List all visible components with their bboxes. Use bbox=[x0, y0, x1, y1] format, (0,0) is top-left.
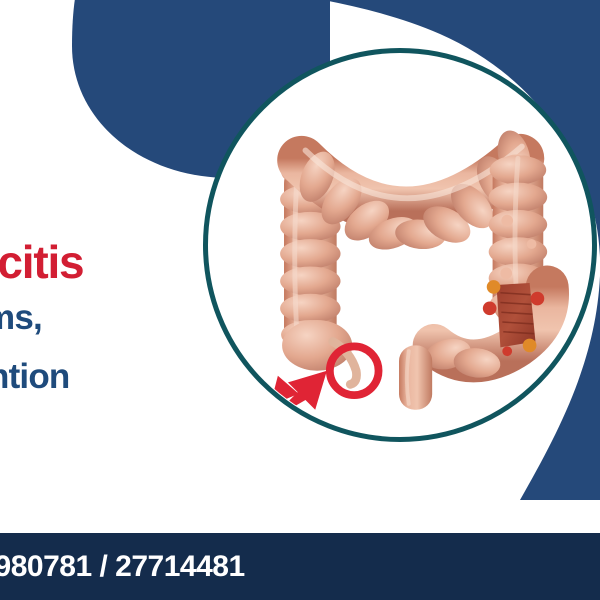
subtitle-line-2: evention bbox=[0, 348, 272, 406]
contact-bar: 820980781 / 27714481 bbox=[0, 533, 600, 600]
subtitle-line-1: ptoms, bbox=[0, 288, 272, 348]
colon-cross-section bbox=[422, 280, 548, 380]
appendicitis-banner: ndicitis ptoms, evention 820980781 / 277… bbox=[0, 0, 600, 600]
headline-block: ndicitis ptoms, evention bbox=[0, 236, 272, 406]
page-title: ndicitis bbox=[0, 236, 272, 288]
contact-phone-numbers[interactable]: 820980781 / 27714481 bbox=[0, 550, 245, 584]
rectum bbox=[399, 345, 432, 409]
pointer-arrow-body-icon bbox=[268, 371, 326, 422]
